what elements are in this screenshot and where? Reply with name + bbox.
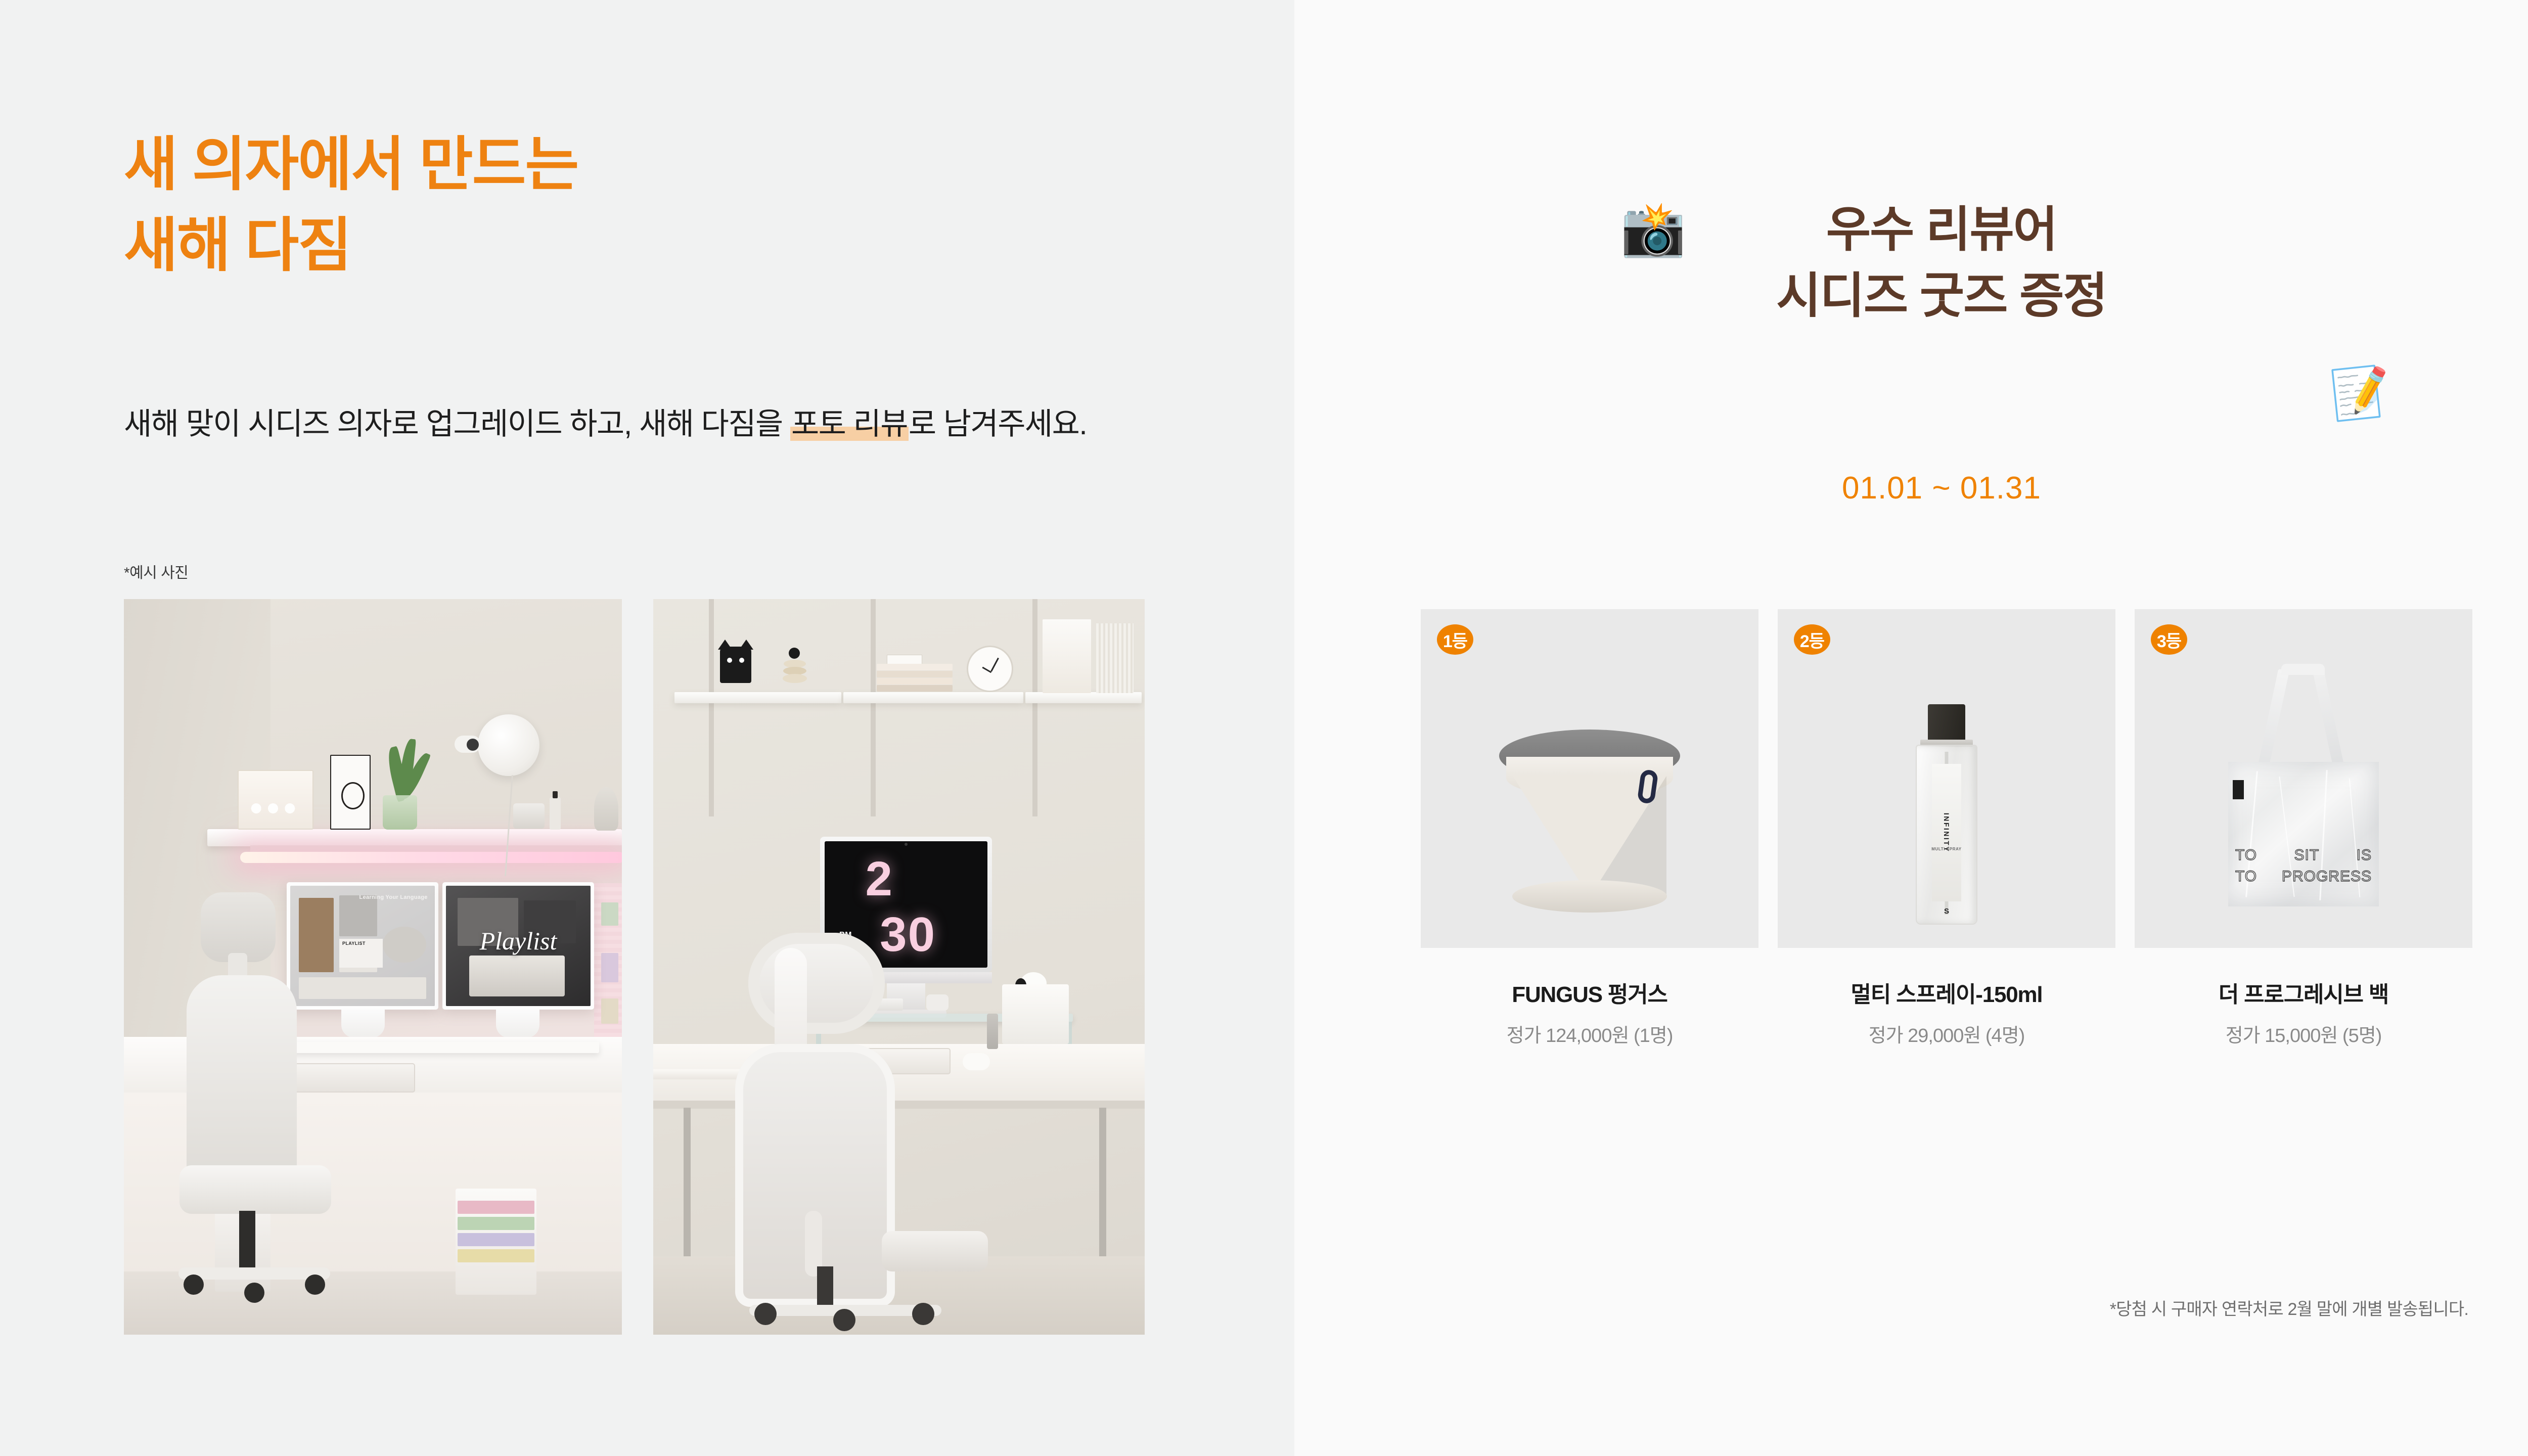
- screen-playlist-word: Playlist: [480, 926, 557, 955]
- book: [877, 678, 953, 685]
- clock-hour: 2: [866, 852, 893, 906]
- mouse: [963, 1053, 990, 1070]
- screen-tile: [339, 895, 377, 936]
- chair-headrest: [748, 933, 885, 1034]
- monitor-riser: [276, 1042, 599, 1053]
- desk-puck: [926, 994, 949, 1011]
- binder: [1043, 619, 1091, 693]
- cart-item: [458, 1201, 534, 1214]
- shelf-jar: [513, 803, 545, 829]
- prize-title-3: 더 프로그레시브 백: [2135, 976, 2472, 1009]
- plant-pot: [383, 795, 417, 830]
- subtitle-part-2: 로 남겨주세요.: [909, 407, 1087, 441]
- prize-price-1: 정가 124,000원 (1명): [1421, 1020, 1758, 1048]
- wall-shelf: [207, 829, 622, 846]
- event-date-range: 01.01 ~ 01.31: [1294, 470, 2528, 506]
- screen-tile: [383, 927, 426, 963]
- pegboard-note: [601, 902, 618, 926]
- book: [877, 685, 953, 692]
- screen-tile: [299, 977, 426, 999]
- tote-word: PROGRESS: [2282, 868, 2372, 885]
- photo-disclaimer: *예시 사진: [124, 560, 188, 582]
- wall-clock: [967, 646, 1013, 692]
- monitor-left: Learning Your Language PLAYLIST: [287, 882, 438, 1010]
- wall-shelf: [843, 692, 1023, 703]
- dropper-bottle: [550, 797, 561, 830]
- wall-lamp: [478, 714, 539, 776]
- cat-eye: [739, 658, 744, 663]
- metal-cylinder: [987, 1014, 998, 1049]
- bottle-mark-text: S: [1944, 907, 1949, 916]
- book: [877, 671, 953, 677]
- cart-item: [458, 1233, 534, 1246]
- bottle-cap: [1928, 704, 1965, 742]
- chair-wheel: [912, 1303, 934, 1325]
- bottle-sublabel-text: MULTI SPRAY: [1931, 847, 1962, 852]
- chair-wheel: [184, 1275, 204, 1295]
- clock-time: 2 30: [866, 851, 947, 963]
- stacking-toy-top: [789, 648, 800, 659]
- book: [877, 664, 953, 670]
- prize-image-1: 1등: [1421, 609, 1758, 948]
- rank-badge-3: 3등: [2151, 624, 2187, 655]
- prize-title-2: 멀티 스프레이-150ml: [1778, 976, 2115, 1009]
- book-stack: [877, 664, 953, 692]
- chair-seat: [882, 1231, 988, 1271]
- prize-card-3[interactable]: 3등 TO SIT IS TO: [2135, 609, 2472, 1048]
- subtitle-highlight: 포토 리뷰: [790, 407, 909, 441]
- pink-light-bar: [240, 852, 622, 863]
- chair-backrest: [187, 975, 297, 1188]
- tote-word: IS: [2357, 847, 2372, 864]
- stacking-toy-ring: [783, 674, 807, 683]
- subtitle: 새해 맞이 시디즈 의자로 업그레이드 하고, 새해 다짐을 포토 리뷰로 남겨…: [124, 399, 1087, 448]
- prize-heading-line-2: 시디즈 굿즈 증정: [1294, 263, 2528, 330]
- screen-heading-text: Learning Your Language: [359, 894, 428, 900]
- tissue-box: [1002, 984, 1069, 1044]
- screen-tile: [299, 898, 334, 973]
- prize-heading: 📸 우수 리뷰어 시디즈 굿즈 증정 📝: [1294, 197, 2528, 329]
- prize-image-2: 2등 INFINITY MULTI SPRAY S: [1778, 609, 2115, 948]
- prize-heading-line-1: 우수 리뷰어: [1294, 197, 2528, 263]
- monitor-right-screen: Playlist: [446, 886, 591, 1006]
- promo-banner: 새 의자에서 만드는 새해 다짐 새해 맞이 시디즈 의자로 업그레이드 하고,…: [0, 0, 2528, 1456]
- keyboard: [294, 1063, 415, 1093]
- egg-box: [238, 770, 313, 830]
- tote-word: SIT: [2294, 847, 2320, 864]
- binder: [1096, 623, 1134, 693]
- decor-stone: [594, 787, 618, 831]
- desk-calendar: [330, 755, 371, 830]
- stool-foot: [1512, 880, 1667, 913]
- tote-handle: [2313, 669, 2344, 767]
- monitor-left-screen: Learning Your Language PLAYLIST: [290, 886, 435, 1006]
- subtitle-part-1: 새해 맞이 시디즈 의자로 업그레이드 하고, 새해 다짐을: [124, 407, 790, 441]
- chair-headrest: [201, 892, 276, 962]
- pegboard-note: [601, 998, 618, 1024]
- delivery-footnote: *당첨 시 구매자 연락처로 2월 말에 개별 발송됩니다.: [2110, 1295, 2468, 1320]
- prize-card-2[interactable]: 2등 INFINITY MULTI SPRAY S 멀티 스프레이-150ml …: [1778, 609, 2115, 1048]
- screen-tile: [469, 955, 565, 996]
- cart-item: [458, 1249, 534, 1262]
- prize-price-2: 정가 29,000원 (4명): [1778, 1020, 2115, 1048]
- clock-minute: 30: [880, 907, 936, 962]
- cart-item: [458, 1217, 534, 1230]
- chair-post: [239, 1211, 255, 1271]
- pegboard-note: [601, 953, 618, 982]
- right-panel: 📸 우수 리뷰어 시디즈 굿즈 증정 📝 01.01 ~ 01.31 1등 FU…: [1294, 0, 2528, 1456]
- shelf-rail: [1032, 599, 1037, 816]
- left-panel: 새 의자에서 만드는 새해 다짐 새해 맞이 시디즈 의자로 업그레이드 하고,…: [0, 0, 1294, 1456]
- shelf-rail: [871, 599, 876, 816]
- wall-shelf: [1025, 692, 1142, 703]
- tote-print-line-2: TO PROGRESS: [2235, 868, 2372, 885]
- prize-card-1[interactable]: 1등 FUNGUS 펑거스 정가 124,000원 (1명): [1421, 609, 1758, 1048]
- chair-wheel: [833, 1309, 855, 1331]
- prize-price-3: 정가 15,000원 (5명): [2135, 1020, 2472, 1048]
- page-title: 새 의자에서 만드는 새해 다짐: [124, 124, 578, 286]
- chair-wheel: [305, 1275, 325, 1295]
- monitor-right: Playlist: [442, 882, 594, 1010]
- screen-playlist-label: PLAYLIST: [342, 941, 366, 946]
- lamp-bulb: [467, 739, 479, 751]
- example-photo-2: PM 2 30: [653, 599, 1145, 1335]
- shelf-rail: [709, 599, 714, 816]
- cat-eye: [727, 658, 732, 663]
- prize-card-list: 1등 FUNGUS 펑거스 정가 124,000원 (1명) 2등: [1421, 609, 2472, 1048]
- example-photo-1: Learning Your Language PLAYLIST Playlist: [124, 599, 622, 1335]
- prize-image-3: 3등 TO SIT IS TO: [2135, 609, 2472, 948]
- wall-shelf: [674, 692, 841, 703]
- chair-wheel: [754, 1303, 777, 1325]
- tote-handle: [2258, 669, 2289, 767]
- monitor-stand: [496, 1010, 539, 1038]
- bottle-label: INFINITY: [1932, 764, 1961, 901]
- tote-handle-top: [2281, 664, 2325, 675]
- tote-word: TO: [2235, 847, 2257, 864]
- prize-title-1: FUNGUS 펑거스: [1421, 976, 1758, 1009]
- webcam-icon: [905, 843, 908, 846]
- rank-badge-2: 2등: [1794, 624, 1830, 655]
- tote-print-line-1: TO SIT IS: [2235, 847, 2372, 864]
- memo-icon: 📝: [2328, 366, 2395, 428]
- rank-badge-1: 1등: [1437, 624, 1473, 655]
- chair-wheel: [244, 1283, 264, 1303]
- cat-figurine: [720, 647, 751, 683]
- desk-edge: [653, 1101, 1145, 1109]
- chair-seat: [179, 1165, 331, 1214]
- example-photo-row: Learning Your Language PLAYLIST Playlist: [124, 599, 1145, 1335]
- tote-word: TO: [2235, 868, 2257, 885]
- monitor-stand: [341, 1010, 385, 1038]
- tote-brand-tag: [2233, 780, 2244, 799]
